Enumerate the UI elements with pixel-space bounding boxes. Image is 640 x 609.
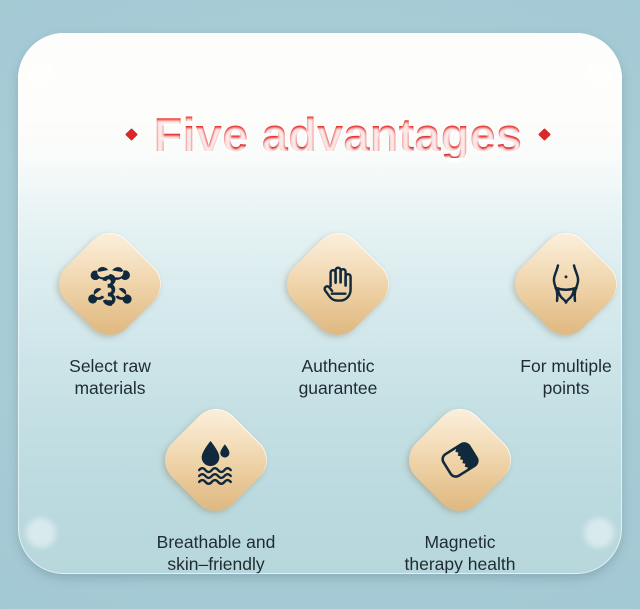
advantage-item-breathable-skin-friendly: Breathable and skin–friendly [130, 401, 302, 574]
page-title-row: Five advantages [18, 111, 622, 158]
advantage-label-line2: points [520, 377, 611, 399]
advantage-label-line1: Authentic [302, 356, 375, 376]
advantage-item-authentic-guarantee: Authentic guarantee [252, 225, 424, 400]
advantage-tile [51, 225, 169, 343]
advantage-label-line2: guarantee [299, 377, 378, 399]
advantage-tile [401, 401, 519, 519]
advantage-label-line2: skin–friendly [157, 553, 276, 574]
diamond-bullet-left-icon [125, 128, 138, 141]
advantage-label: Select raw materials [69, 355, 151, 400]
card-corner-highlight-top-left [26, 59, 56, 89]
advantage-label-line2: therapy health [405, 553, 516, 574]
card-corner-highlight-top-right [584, 59, 614, 89]
advantages-card: Five advantages [18, 33, 622, 574]
advantage-label: Authentic guarantee [299, 355, 378, 400]
advantage-label-line1: For multiple [520, 356, 611, 376]
advantage-tile [279, 225, 397, 343]
torso-waist-icon [535, 253, 597, 315]
open-hand-icon [307, 253, 369, 315]
magnetic-patch-icon [429, 429, 491, 491]
ginger-root-icon [79, 253, 141, 315]
advantage-item-magnetic-therapy-health: Magnetic therapy health [374, 401, 546, 574]
advantage-label-line1: Select raw [69, 356, 151, 376]
advantage-item-select-raw-materials: Select raw materials [24, 225, 196, 400]
advantage-label-line1: Magnetic [424, 532, 495, 552]
advantage-label-line1: Breathable and [157, 532, 276, 552]
advantage-tile [507, 225, 622, 343]
advantage-item-for-multiple-points: For multiple points [480, 225, 622, 400]
diamond-bullet-right-icon [538, 128, 551, 141]
advantages-row-2: Breathable and skin–friendly [18, 401, 622, 574]
water-drop-waves-icon [185, 429, 247, 491]
advantage-label: Breathable and skin–friendly [157, 531, 276, 574]
advantage-tile [157, 401, 275, 519]
poster-stage: Five advantages [0, 0, 640, 609]
advantages-row-1: Select raw materials [18, 225, 622, 400]
advantage-label: Magnetic therapy health [405, 531, 516, 574]
advantage-label: For multiple points [520, 355, 611, 400]
advantage-label-line2: materials [69, 377, 151, 399]
page-title: Five advantages [154, 111, 523, 158]
